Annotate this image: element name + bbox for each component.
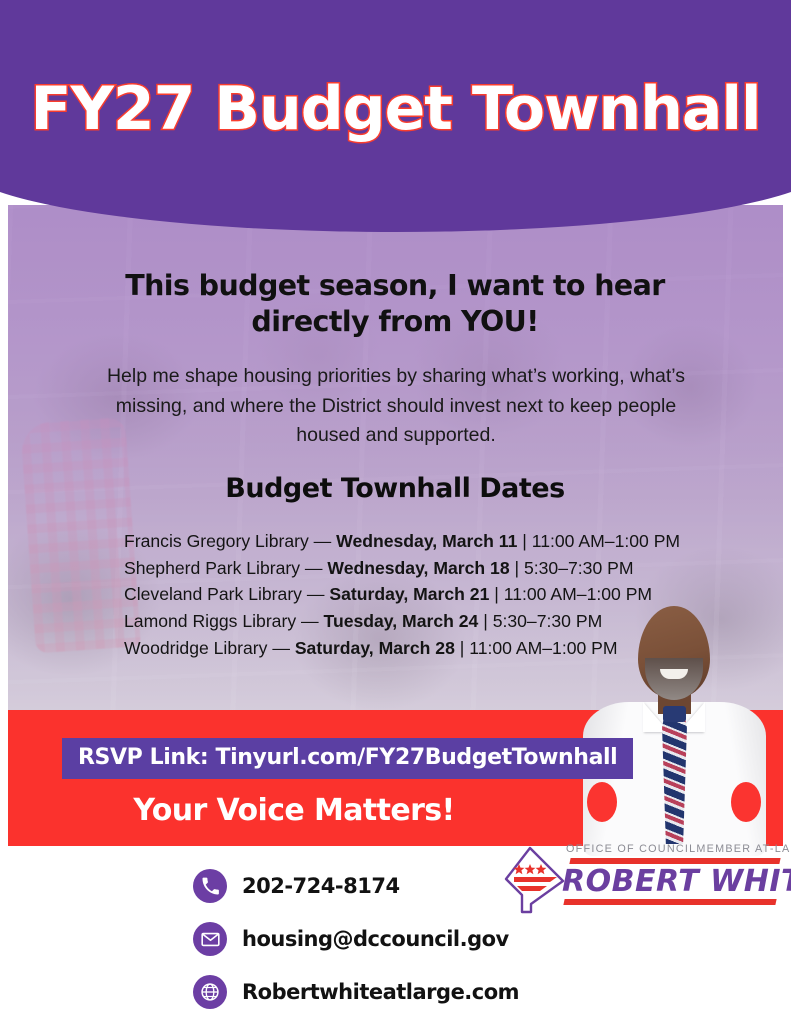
logo-bar-bottom <box>563 899 776 905</box>
flyer-page: FY27 Budget Townhall This budget season,… <box>0 0 791 1023</box>
dates-heading: Budget Townhall Dates <box>95 473 695 504</box>
rsvp-link-label: RSVP Link: Tinyurl.com/FY27BudgetTownhal… <box>78 745 617 770</box>
contact-list: 202-724-8174 housing@dccouncil.gov <box>193 862 519 1021</box>
logo-bar-top <box>569 858 780 864</box>
date-separator: | <box>517 531 531 551</box>
date-day: Tuesday, March 24 <box>324 611 479 631</box>
date-separator: | <box>455 638 469 658</box>
list-item: Cleveland Park Library — Saturday, March… <box>124 581 684 608</box>
portrait-tie-knot <box>663 706 686 722</box>
list-item: Shepherd Park Library — Wednesday, March… <box>124 555 684 582</box>
portrait-arm-gap-left <box>587 782 617 822</box>
contact-website-value: Robertwhiteatlarge.com <box>242 980 519 1004</box>
contact-email-value: housing@dccouncil.gov <box>242 927 509 951</box>
page-title: FY27 Budget Townhall <box>0 74 791 144</box>
date-venue: Woodridge Library — <box>124 638 295 658</box>
portrait-arm-gap-right <box>731 782 761 822</box>
logo-name: ROBERT WHITE <box>562 866 783 897</box>
contact-row-website[interactable]: Robertwhiteatlarge.com <box>193 968 519 1016</box>
date-separator: | <box>510 558 524 578</box>
date-day: Wednesday, March 18 <box>327 558 509 578</box>
contact-row-email[interactable]: housing@dccouncil.gov <box>193 915 519 963</box>
date-venue: Lamond Riggs Library — <box>124 611 324 631</box>
logo-text-block: OFFICE OF COUNCILMEMBER AT-LARGE ROBERT … <box>562 843 783 905</box>
rsvp-link-chip[interactable]: RSVP Link: Tinyurl.com/FY27BudgetTownhal… <box>62 738 633 779</box>
envelope-icon <box>193 922 227 956</box>
date-day: Saturday, March 28 <box>295 638 455 658</box>
date-day: Wednesday, March 11 <box>336 531 517 551</box>
date-venue: Shepherd Park Library — <box>124 558 327 578</box>
date-day: Saturday, March 21 <box>329 584 489 604</box>
date-separator: | <box>489 584 503 604</box>
date-venue: Francis Gregory Library — <box>124 531 336 551</box>
date-time: 11:00 AM–1:00 PM <box>532 531 680 551</box>
contact-phone-value: 202-724-8174 <box>242 874 400 898</box>
portrait-beard <box>645 658 703 700</box>
your-voice-matters-text: Your Voice Matters! <box>24 793 564 828</box>
phone-icon <box>193 869 227 903</box>
globe-icon <box>193 975 227 1009</box>
list-item: Francis Gregory Library — Wednesday, Mar… <box>124 528 684 555</box>
lede-headline: This budget season, I want to hear direc… <box>95 268 695 340</box>
date-venue: Cleveland Park Library — <box>124 584 329 604</box>
header-banner: FY27 Budget Townhall <box>0 0 791 232</box>
robert-white-logo: OFFICE OF COUNCILMEMBER AT-LARGE ROBERT … <box>500 843 783 915</box>
dc-flag-diamond-icon <box>500 845 568 915</box>
councilmember-portrait <box>565 606 783 856</box>
date-time: 11:00 AM–1:00 PM <box>504 584 652 604</box>
logo-office-line: OFFICE OF COUNCILMEMBER AT-LARGE <box>566 843 783 855</box>
date-separator: | <box>478 611 492 631</box>
intro-paragraph: Help me shape housing priorities by shar… <box>100 362 692 451</box>
contact-row-phone[interactable]: 202-724-8174 <box>193 862 519 910</box>
date-time: 5:30–7:30 PM <box>524 558 634 578</box>
